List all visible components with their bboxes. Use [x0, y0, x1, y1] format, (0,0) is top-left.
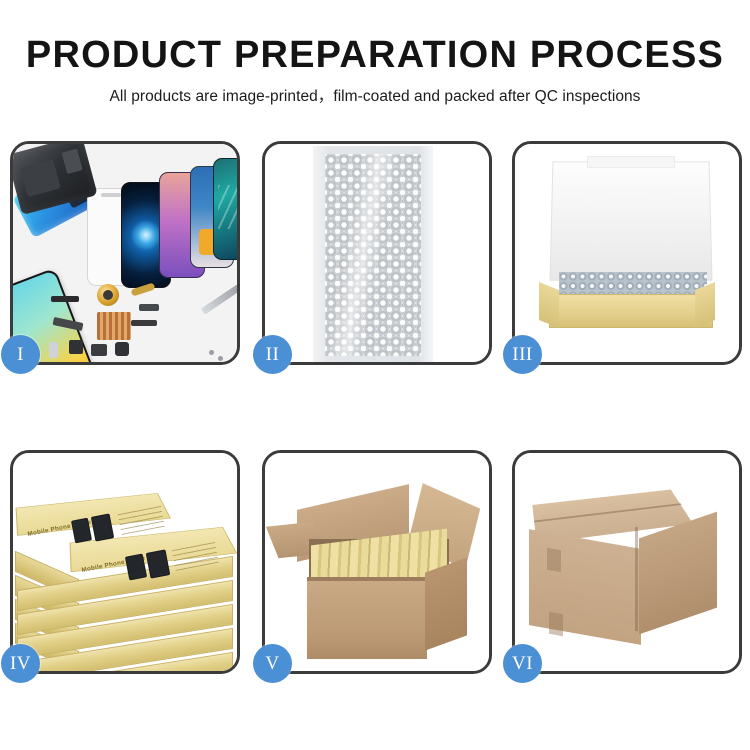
- box-right-flap: [695, 282, 715, 328]
- box-lid-white: [549, 161, 712, 280]
- step-panel-2: II: [262, 141, 492, 365]
- spare-part-sim-tray: [49, 342, 58, 358]
- spare-part-module-b: [91, 344, 107, 356]
- step-4-image: Mobile Phone Spare Parts Mobile Phone Sp…: [13, 453, 237, 671]
- step-5-image: [265, 453, 489, 671]
- sealed-carton-illustration: [515, 453, 739, 671]
- step-badge-5: V: [253, 644, 292, 683]
- box-left-flap: [539, 282, 559, 328]
- screw-1: [209, 350, 214, 355]
- step-panel-1: I: [10, 141, 240, 365]
- box-front-panel: [549, 294, 713, 328]
- step-badge-6: VI: [503, 644, 542, 683]
- sealed-carton-side: [639, 512, 717, 635]
- sealed-carton-tape-1: [547, 548, 561, 572]
- step-badge-1: I: [1, 335, 40, 374]
- stacked-boxes-illustration: Mobile Phone Spare Parts Mobile Phone Sp…: [13, 453, 237, 671]
- step-panel-5: V: [262, 450, 492, 674]
- step-panel-4: Mobile Phone Spare Parts Mobile Phone Sp…: [10, 450, 240, 674]
- carton-side-panel: [425, 557, 467, 650]
- step-2-image: [265, 144, 489, 362]
- step-badge-2: II: [253, 335, 292, 374]
- box-stack: Mobile Phone Spare Parts Mobile Phone Sp…: [15, 477, 237, 671]
- speaker-coil-part: [97, 284, 119, 306]
- spare-part-flex-dark: [131, 320, 157, 326]
- sealed-carton-tape-2: [549, 612, 563, 636]
- spare-part-bar: [51, 296, 79, 302]
- circuit-board-part: [97, 312, 131, 340]
- bubble-wrap-illustration: [265, 144, 489, 362]
- carton-filling-illustration: [265, 453, 489, 671]
- phone-teal: [213, 158, 237, 260]
- phones-and-parts-illustration: [13, 144, 237, 362]
- step-badge-4: IV: [1, 644, 40, 683]
- carton-front-panel: [307, 581, 427, 659]
- step-6-image: [515, 453, 739, 671]
- step-panel-3: III: [512, 141, 742, 365]
- process-steps-grid: I II: [0, 0, 750, 750]
- step-3-image: [515, 144, 739, 362]
- screw-2: [218, 356, 223, 361]
- step-badge-3: III: [503, 335, 542, 374]
- bubble-wrap-highlight: [325, 154, 421, 356]
- sealed-carton-edge: [635, 527, 638, 632]
- spare-part-module-c: [115, 342, 129, 356]
- inner-box-illustration: [515, 144, 739, 362]
- sealed-carton-front: [529, 529, 641, 645]
- spare-part-connector: [139, 304, 159, 311]
- product-preparation-process-page: PRODUCT PREPARATION PROCESS All products…: [0, 0, 750, 750]
- spare-part-module-a: [69, 340, 83, 354]
- box-lid-tab: [587, 156, 675, 168]
- step-1-image: [13, 144, 237, 362]
- step-panel-6: VI: [512, 450, 742, 674]
- tweezers-tool: [201, 284, 237, 314]
